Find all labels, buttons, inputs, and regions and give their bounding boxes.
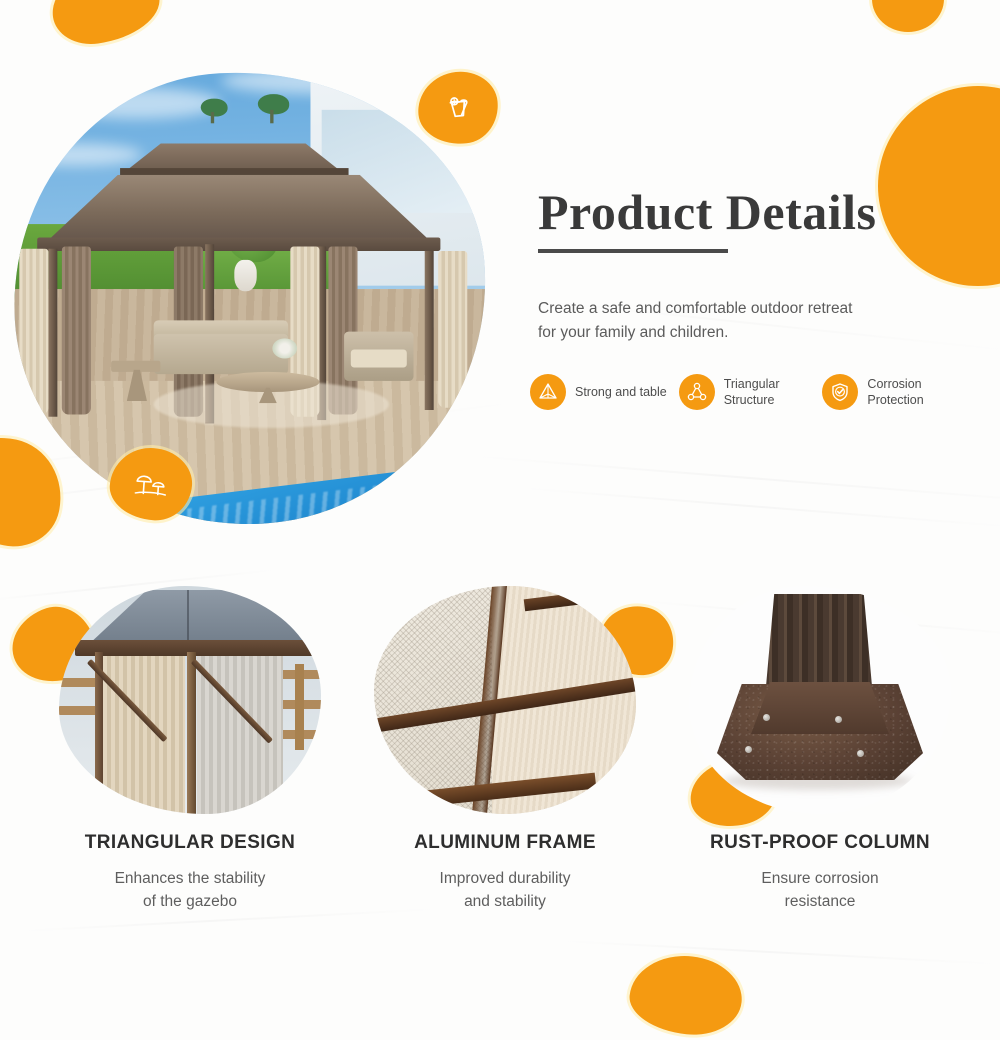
base-plate-collar: [751, 682, 889, 734]
feature-badge-triangular-structure: Triangular Structure: [679, 374, 823, 410]
feature-badge-strong-stable: Strong and table: [530, 374, 679, 410]
gazebo-post: [48, 249, 57, 417]
gazebo-upper-roof: [127, 143, 340, 170]
streak: [470, 455, 1000, 506]
pyramid-icon: [537, 381, 559, 403]
flower-arrangement: [272, 338, 297, 358]
triangle-nodes-icon: [686, 381, 708, 403]
page-subtitle: Create a safe and comfortable outdoor re…: [538, 297, 858, 345]
feature-badge-label: Triangular Structure: [724, 376, 823, 409]
rust-proof-column-base-photo: [689, 586, 951, 814]
mounting-bolt: [835, 716, 842, 723]
gazebo-curtain: [438, 251, 467, 408]
palm-tree: [380, 61, 405, 77]
mounting-bolt: [745, 746, 752, 753]
aluminum-frame-ceiling-photo: [374, 586, 636, 814]
hero-gazebo-photo: [2, 60, 497, 536]
cocktail-glass-icon: [439, 89, 476, 126]
gazebo-curtain: [19, 249, 48, 415]
armchair-cushion: [351, 350, 407, 368]
palm-trunk: [211, 112, 214, 123]
decorative-blob-top-left: [48, 0, 165, 49]
shield-check-icon-circle: [822, 374, 858, 410]
title-underline: [538, 249, 728, 253]
palm-trunk: [270, 110, 273, 123]
pyramid-icon-circle: [530, 374, 566, 410]
mounting-bolt: [763, 714, 770, 721]
feature-card-aluminum-frame: ALUMINUM FRAME Improved durabilityand st…: [345, 586, 665, 914]
card-title: RUST-PROOF COLUMN: [660, 832, 980, 854]
card-description: Enhances the stabilityof the gazebo: [30, 867, 350, 914]
pergola-post: [295, 664, 304, 750]
product-details-header: Product Details Create a safe and comfor…: [538, 186, 958, 345]
feature-badge-label: Corrosion Protection: [867, 376, 980, 409]
beach-umbrella-icon: [131, 466, 171, 503]
triangle-nodes-icon-circle: [679, 374, 715, 410]
shield-check-icon: [829, 381, 851, 403]
feature-badge-label: Strong and table: [575, 384, 667, 401]
feature-card-row: TRIANGULAR DESIGN Enhances the stability…: [0, 586, 1000, 966]
feature-card-rust-proof-column: RUST-PROOF COLUMN Ensure corrosionresist…: [660, 586, 980, 914]
card-description: Ensure corrosionresistance: [660, 867, 980, 914]
card-title: TRIANGULAR DESIGN: [30, 832, 350, 854]
feature-badge-row: Strong and table Triangular Structure Co…: [530, 374, 980, 410]
streak: [520, 487, 1000, 528]
feature-badge-corrosion-protection: Corrosion Protection: [822, 374, 980, 410]
decorative-blob-top-right: [872, 0, 944, 32]
gazebo-curtain: [62, 246, 91, 414]
page-title: Product Details: [538, 186, 958, 239]
beige-curtain: [103, 654, 185, 814]
roof-fascia-beam: [75, 640, 321, 656]
sofa: [154, 334, 288, 374]
floor-vase: [234, 260, 256, 291]
gazebo-corner-triangular-brace-photo: [59, 586, 321, 814]
corner-post: [187, 652, 196, 814]
card-title: ALUMINUM FRAME: [345, 832, 665, 854]
roof-seam: [187, 590, 189, 646]
cloud: [8, 143, 142, 165]
card-description: Improved durabilityand stability: [345, 867, 665, 914]
feature-card-triangular-design: TRIANGULAR DESIGN Enhances the stability…: [30, 586, 350, 914]
cloud: [53, 87, 221, 118]
gazebo-roof-edge: [37, 238, 440, 251]
mounting-bolt: [857, 750, 864, 757]
gazebo-post: [425, 251, 434, 410]
